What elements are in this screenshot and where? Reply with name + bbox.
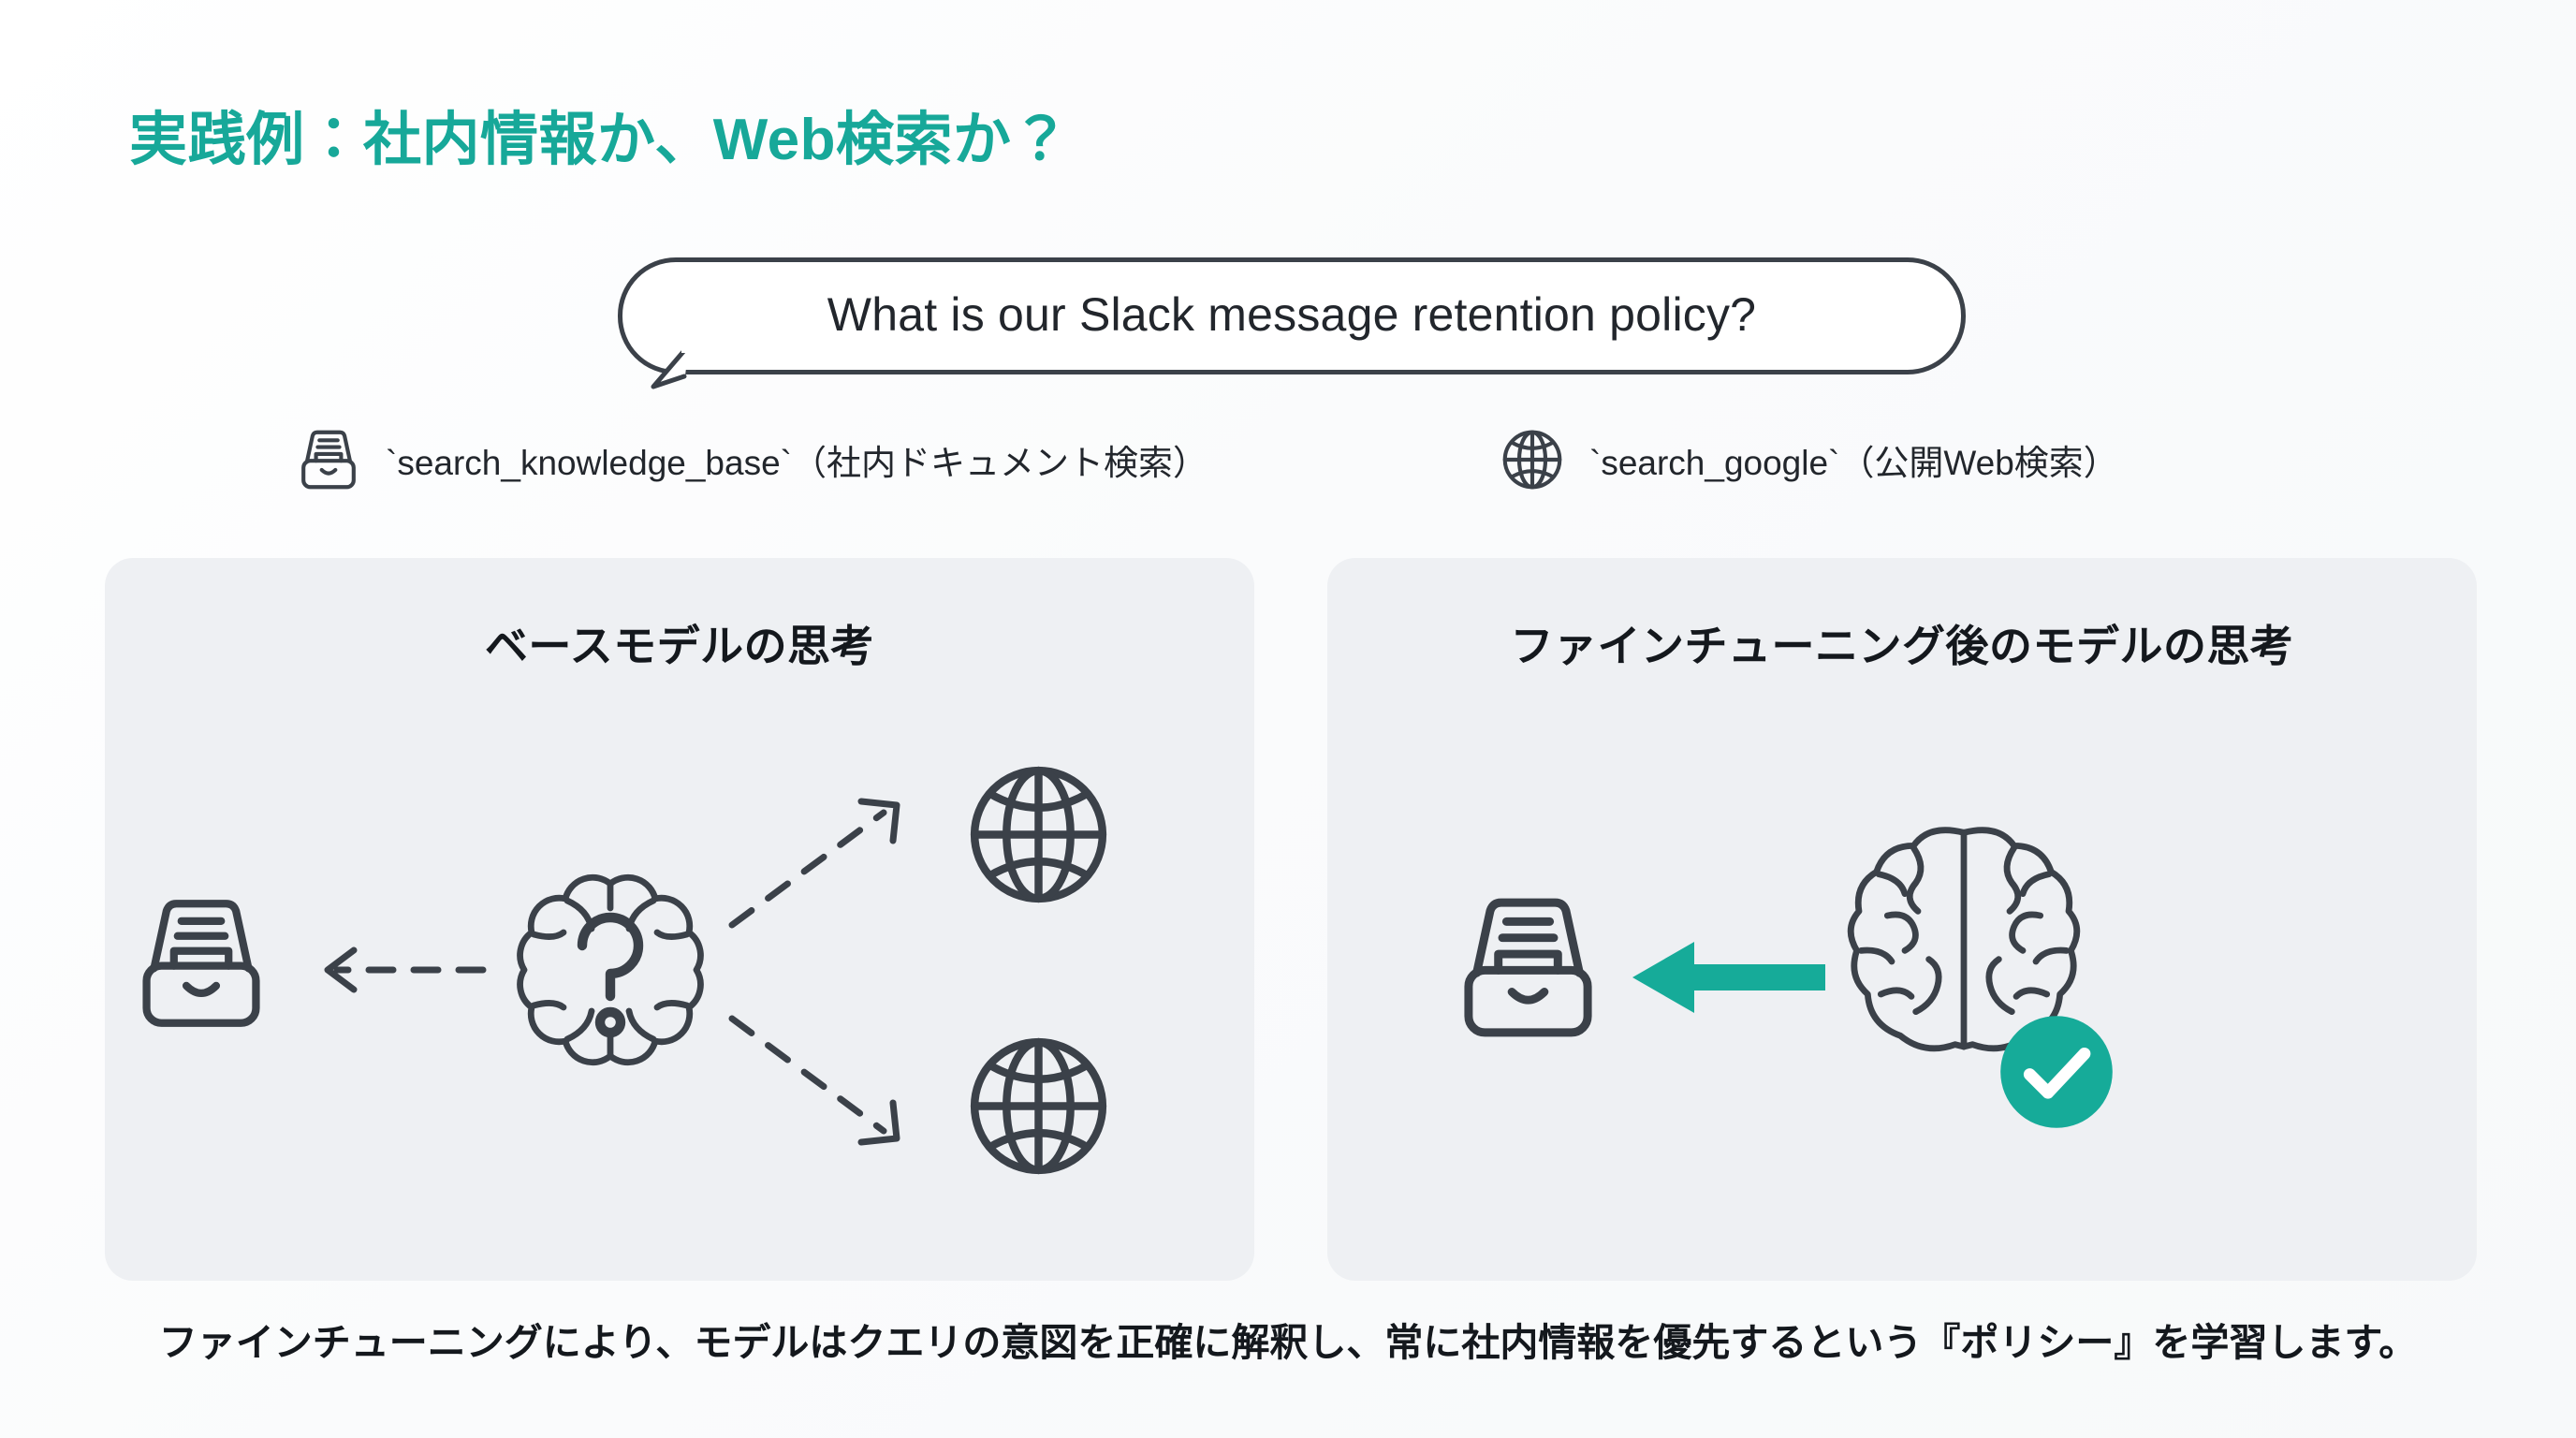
query-speech-bubble: What is our Slack message retention poli… xyxy=(618,257,1966,374)
tool-legend-label: `search_google`（公開Web検索） xyxy=(1589,434,2118,485)
panel-heading: ファインチューニング後のモデルの思考 xyxy=(1327,612,2477,674)
page-title: 実践例：社内情報か、Web検索か？ xyxy=(129,92,1070,176)
bubble-tail-icon xyxy=(644,344,700,400)
globe-icon xyxy=(1496,423,1569,496)
slide-canvas: 実践例：社内情報か、Web検索か？ What is our Slack mess… xyxy=(0,0,2576,1438)
panel-finetuned-model: ファインチューニング後のモデルの思考 xyxy=(1327,558,2477,1281)
tool-legend-label: `search_knowledge_base`（社内ドキュメント検索） xyxy=(386,434,1207,485)
slide-caption: ファインチューニングにより、モデルはクエリの意図を正確に解釈し、常に社内情報を優… xyxy=(0,1311,2576,1367)
dashed-arrow-up-right xyxy=(723,785,947,944)
file-archive-icon xyxy=(122,884,281,1043)
globe-icon xyxy=(957,753,1120,917)
solid-arrow-left xyxy=(1625,931,1831,1024)
brain-question-icon xyxy=(498,858,723,1082)
panel-diagram-base-model xyxy=(105,708,1254,1281)
panel-diagram-finetuned-model xyxy=(1327,708,2477,1281)
file-archive-icon xyxy=(292,423,365,496)
panel-base-model: ベースモデルの思考 xyxy=(105,558,1254,1281)
bubble-body: What is our Slack message retention poli… xyxy=(618,257,1966,374)
check-badge-icon xyxy=(1996,1011,2117,1133)
tool-legend-search-google: `search_google`（公開Web検索） xyxy=(1496,423,2118,496)
dashed-arrow-left xyxy=(303,937,490,1003)
globe-icon xyxy=(957,1024,1120,1188)
file-archive-icon xyxy=(1442,881,1615,1054)
bubble-text: What is our Slack message retention poli… xyxy=(827,287,1756,345)
dashed-arrow-down-right xyxy=(723,1000,947,1159)
tool-legend-search-knowledge-base: `search_knowledge_base`（社内ドキュメント検索） xyxy=(292,423,1207,496)
panel-heading: ベースモデルの思考 xyxy=(105,612,1254,674)
